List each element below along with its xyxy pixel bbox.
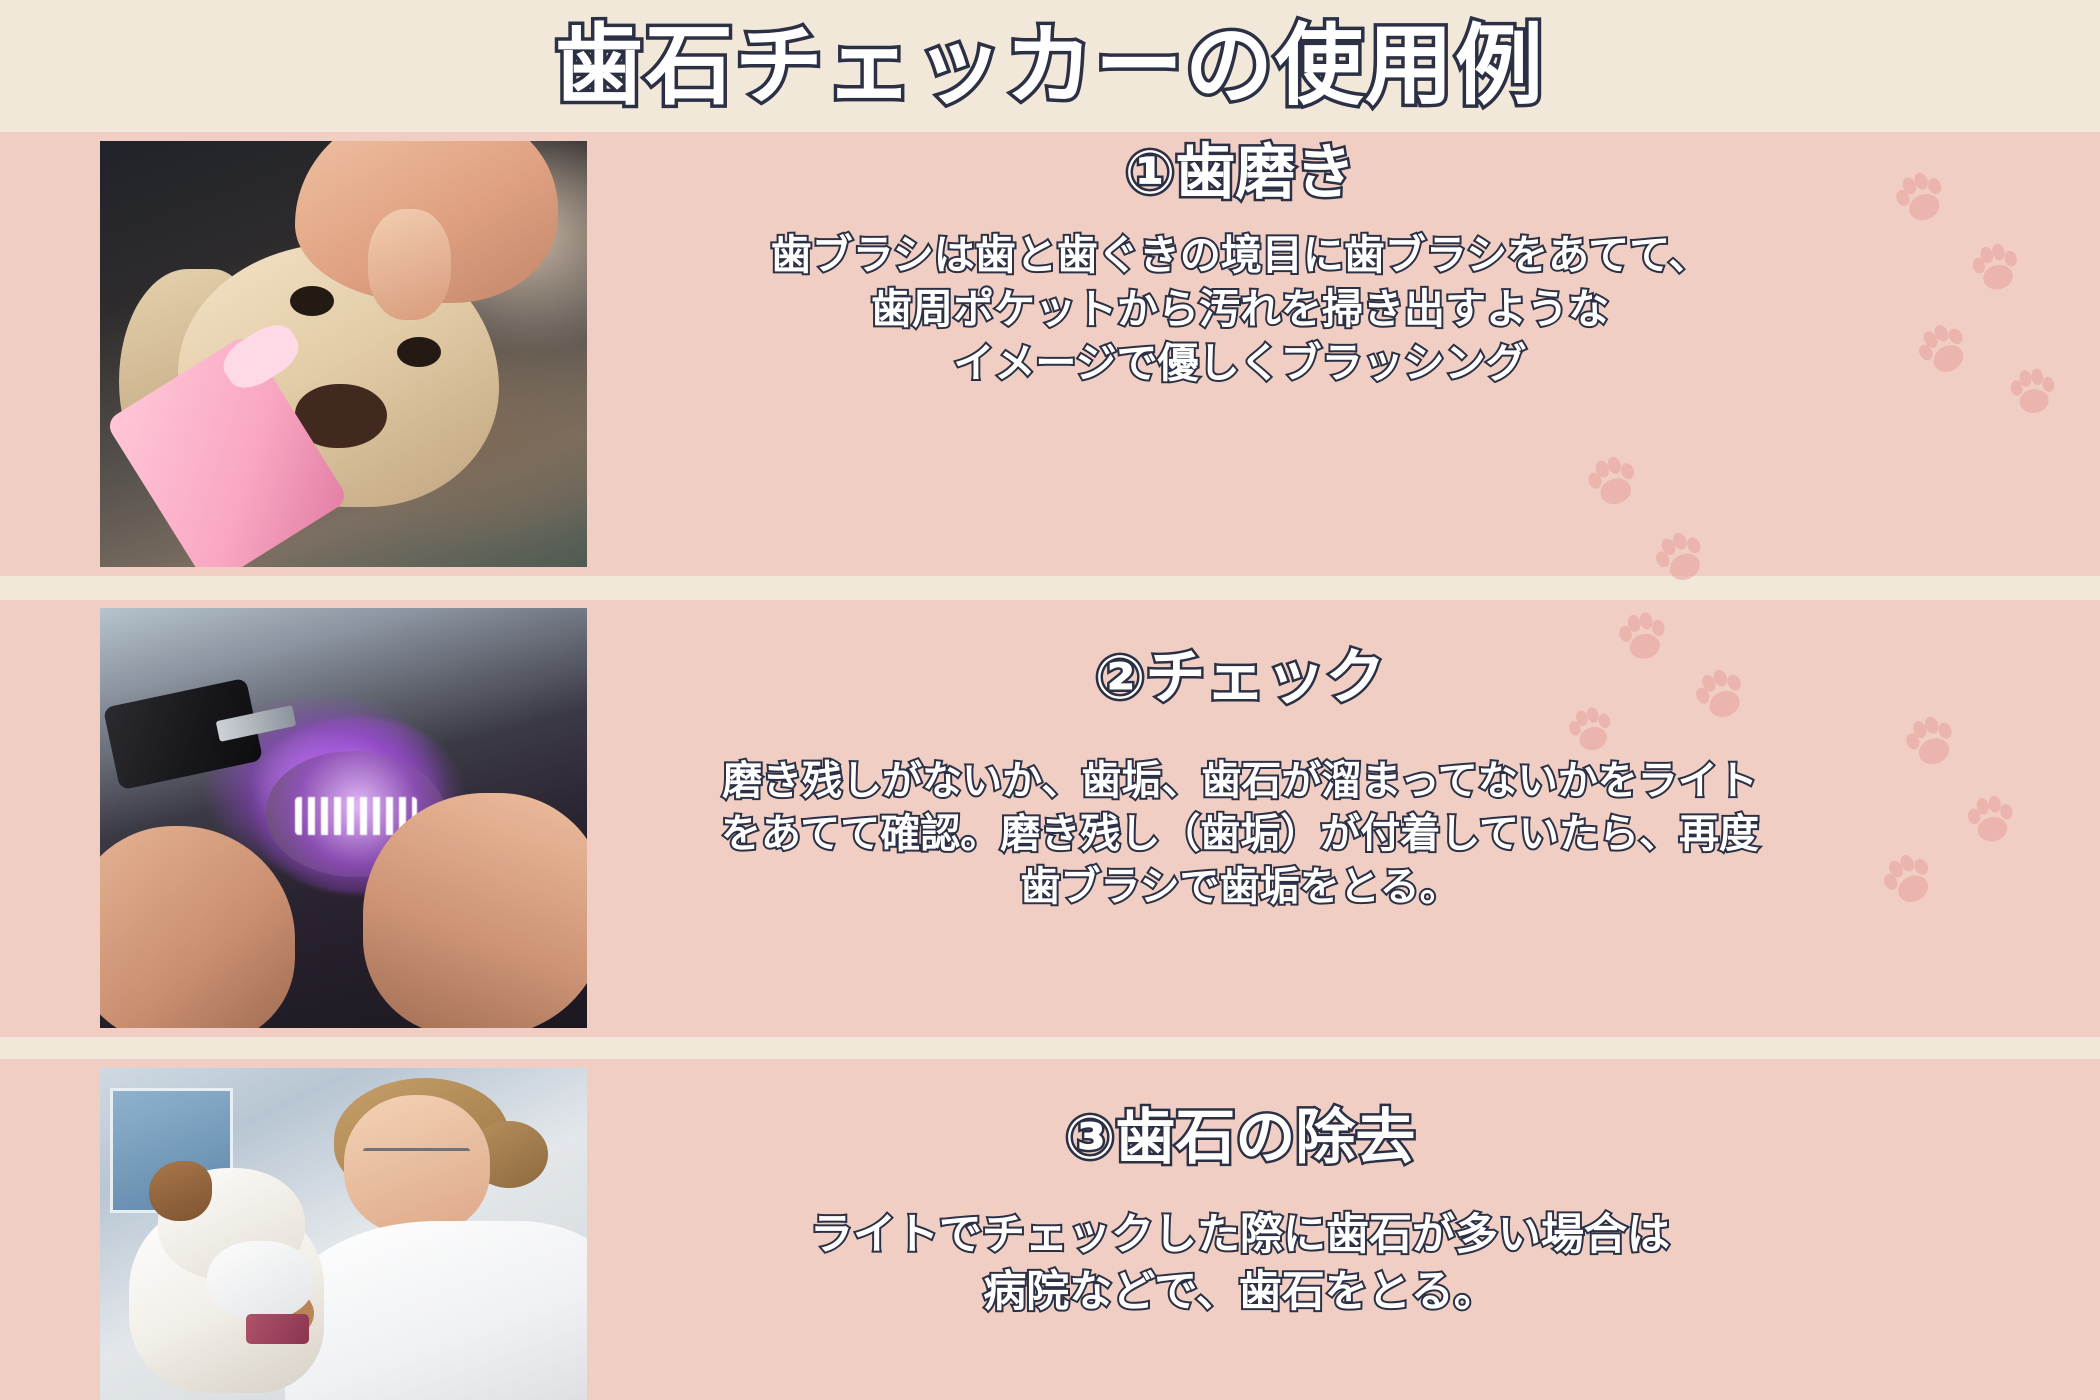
body-step-2-line-3: 歯ブラシで歯垢をとる。 [620,861,1860,914]
photo1-dog-eye-right [397,337,441,367]
section-divider-1 [0,576,2100,600]
body-step-3: ライトでチェックした際に歯石が多い場合は 病院などで、歯石をとる。 [620,1207,1860,1321]
text-step-2: ②チェック 磨き残しがないか、歯垢、歯石が溜まってないかをライト をあてて確認。… [620,645,1860,913]
body-step-3-line-1: ライトでチェックした際に歯石が多い場合は [620,1207,1860,1264]
photo3-vet-glasses [363,1148,470,1171]
body-step-1: 歯ブラシは歯と歯ぐきの境目に歯ブラシをあてて、 歯周ポケットから汚れを掃き出すよ… [620,228,1860,390]
section-divider-2 [0,1037,2100,1061]
body-step-2-line-2: をあてて確認。磨き残し（歯垢）が付着していたら、再度 [620,808,1860,861]
body-step-2: 磨き残しがないか、歯垢、歯石が溜まってないかをライト をあてて確認。磨き残し（歯… [620,755,1860,913]
body-step-1-line-3: イメージで優しくブラッシング [620,336,1860,390]
photo3-vet-watch [246,1314,309,1344]
page-title: 歯石チェッカーの使用例 [555,22,1545,110]
paw-print-icon [1607,602,1679,674]
infographic-poster: 歯石チェッカーの使用例 ①歯磨き 歯ブラシは歯と歯ぐきの境目に歯ブラシをあてて、… [0,0,2100,1400]
photo1-dog-eye-left [290,286,334,316]
photo3-vet-coat [285,1221,587,1400]
body-step-2-line-1: 磨き残しがないか、歯垢、歯石が溜まってないかをライト [620,755,1860,808]
paw-print-icon [2000,360,2066,426]
paw-print-icon [1957,787,2026,856]
heading-step-1: ①歯磨き [620,140,1860,206]
text-step-3: ③歯石の除去 ライトでチェックした際に歯石が多い場合は 病院などで、歯石をとる。 [620,1105,1860,1321]
photo-step-3-vet-visit [100,1068,587,1400]
body-step-1-line-2: 歯周ポケットから汚れを掃き出すような [620,282,1860,336]
photo-step-2-uv-check [100,608,587,1028]
title-band: 歯石チェッカーの使用例 [0,0,2100,132]
heading-step-3: ③歯石の除去 [620,1105,1860,1171]
body-step-1-line-1: 歯ブラシは歯と歯ぐきの境目に歯ブラシをあてて、 [620,228,1860,282]
photo1-finger [368,209,451,320]
photo-step-1-toothbrushing [100,141,587,567]
photo3-vet-glove [207,1241,314,1321]
photo3-puppy-ear [149,1161,212,1221]
body-step-3-line-2: 病院などで、歯石をとる。 [620,1264,1860,1321]
text-step-1: ①歯磨き 歯ブラシは歯と歯ぐきの境目に歯ブラシをあてて、 歯周ポケットから汚れを… [620,140,1860,390]
